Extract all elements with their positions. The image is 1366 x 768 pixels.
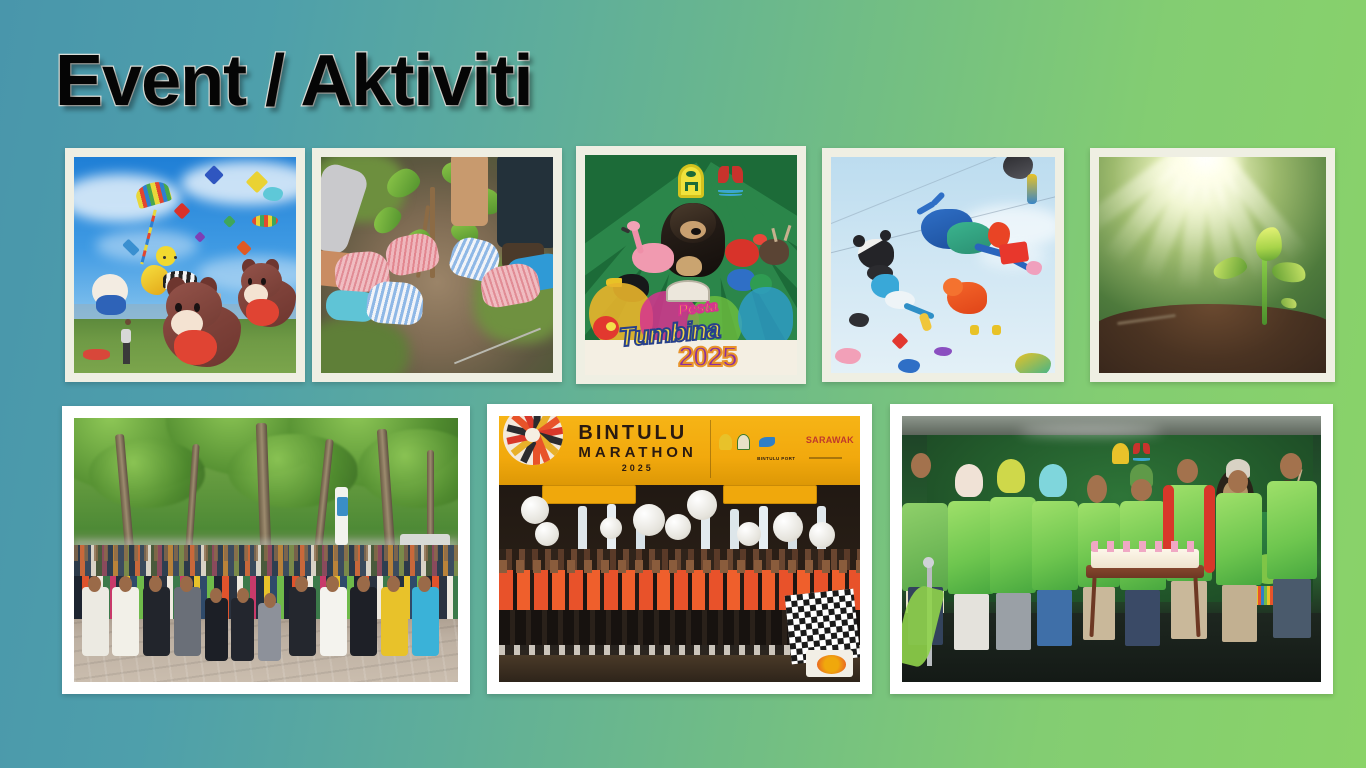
photo-pesta-tumbina-poster: Pesta Tumbina 2025 (585, 155, 797, 375)
marathon-sponsor-2: SARAWAK (806, 435, 854, 445)
marathon-title-line2: MARATHON (578, 444, 696, 461)
marathon-arch-banner: BINTULU MARATHON 2025 BINTULU PORT SARAW… (499, 416, 860, 485)
attendee (1032, 464, 1078, 650)
state-emblem-logo (716, 166, 744, 198)
council-crest-logo (678, 164, 704, 198)
cake-cutting-scene (902, 416, 1321, 682)
gallery-tile-seedling-sunlight[interactable] (1090, 148, 1335, 382)
attendee (1267, 453, 1317, 650)
marathon-starburst-logo (503, 416, 563, 465)
slide-canvas: Event / Aktiviti (0, 0, 1366, 768)
marathon-year: 2025 (622, 463, 654, 473)
photo-cake-cutting-ceremony (902, 416, 1321, 682)
gallery-tile-bintulu-marathon[interactable]: BINTULU MARATHON 2025 BINTULU PORT SARAW… (487, 404, 872, 694)
photo-bintulu-marathon: BINTULU MARATHON 2025 BINTULU PORT SARAW… (499, 416, 860, 682)
park-group-scene (74, 418, 458, 682)
gallery-tile-tree-planting-hands[interactable] (312, 148, 562, 382)
gallery-tile-kite-festival-field[interactable] (65, 148, 305, 382)
animal-kites-scene (831, 157, 1055, 373)
attendee (1216, 459, 1262, 651)
marathon-sponsor-1: BINTULU PORT (757, 456, 795, 461)
attendee (948, 464, 994, 650)
backdrop-crest-logo (1112, 443, 1129, 464)
title-block: Event / Aktiviti (55, 36, 755, 126)
photo-tree-planting-hands (321, 157, 553, 373)
poster-year: 2025 (678, 341, 736, 373)
chipmunk-kite (163, 282, 241, 373)
ceremony-cake (1091, 549, 1200, 568)
tree-planting-scene (321, 157, 553, 373)
photo-seedling-sunlight (1099, 157, 1326, 373)
chipmunk-kite-2 (238, 263, 296, 333)
gallery-tile-pesta-tumbina-poster[interactable]: Pesta Tumbina 2025 (576, 146, 806, 384)
marathon-title-line1: BINTULU (578, 422, 687, 445)
bintulu-marathon-scene: BINTULU MARATHON 2025 BINTULU PORT SARAW… (499, 416, 860, 682)
pesta-tumbina-scene: Pesta Tumbina 2025 (585, 155, 797, 375)
photo-animal-kites-sky (831, 157, 1055, 373)
photo-kite-festival-field (74, 157, 296, 373)
attendee (990, 459, 1036, 651)
photo-park-group-photo (74, 418, 458, 682)
gallery-tile-park-group-photo[interactable] (62, 406, 470, 694)
page-title: Event / Aktiviti (55, 36, 755, 126)
cake-decorations (1091, 541, 1200, 552)
gallery-tile-cake-cutting-ceremony[interactable] (890, 404, 1333, 694)
gallery-tile-animal-kites-sky[interactable] (822, 148, 1064, 382)
backdrop-emblem-logo (1132, 443, 1150, 463)
seedling-scene (1099, 157, 1326, 373)
kite-festival-scene (74, 157, 296, 373)
